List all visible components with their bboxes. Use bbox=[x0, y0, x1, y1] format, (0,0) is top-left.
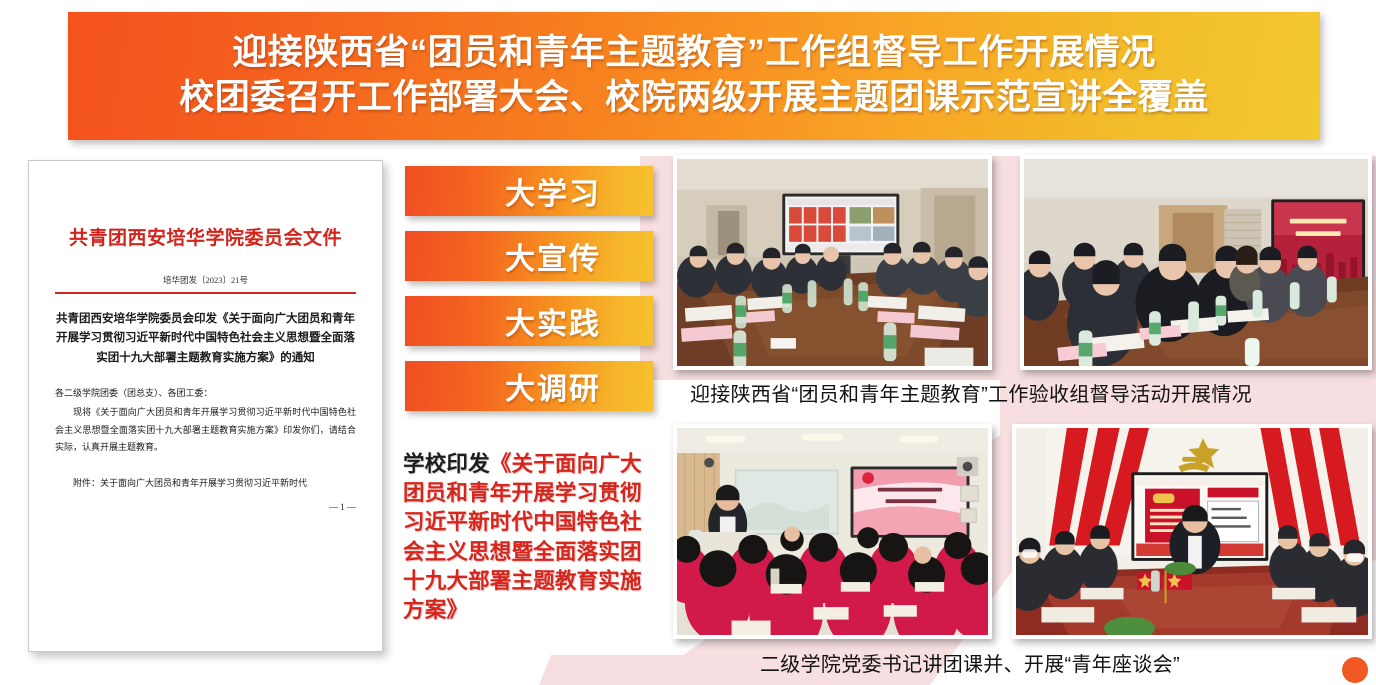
header-banner: 迎接陕西省“团员和青年主题教育”工作组督导工作开展情况 校团委召开工作部署大会、… bbox=[68, 12, 1320, 140]
label-bar-datiaoyan[interactable]: 大调研 bbox=[405, 361, 653, 411]
photo-2-canvas bbox=[1024, 159, 1368, 366]
label-bar-daxuanchuan[interactable]: 大宣传 bbox=[405, 231, 653, 281]
label-bar-dashijian[interactable]: 大实践 bbox=[405, 296, 653, 346]
caption-bottom-photos: 二级学院党委书记讲团课并、开展“青年座谈会” bbox=[760, 648, 1180, 677]
label-bar-daxuanchuan-text: 大宣传 bbox=[457, 234, 601, 278]
document-attachment: 附件：关于面向广大团员和青年开展学习贯彻习近平新时代 bbox=[55, 475, 356, 492]
label-bar-daxuexi[interactable]: 大学习 bbox=[405, 166, 653, 216]
photo-classroom-lecture bbox=[673, 424, 992, 639]
document-number: 培华团发〔2023〕21号 bbox=[55, 274, 356, 286]
photo-4-illustration bbox=[1016, 428, 1368, 635]
background-pink-diagonal-bottom bbox=[539, 655, 756, 685]
document-scan-panel: 共青团西安培华学院委员会文件 培华团发〔2023〕21号 共青团西安培华学院委员… bbox=[28, 160, 383, 652]
photo-party-seminar bbox=[1012, 424, 1372, 639]
document-divider-rule bbox=[55, 292, 356, 294]
label-bar-datiaoyan-text: 大调研 bbox=[457, 364, 601, 408]
campaign-label-bar-group: 大学习 大宣传 大实践 大调研 bbox=[405, 166, 653, 426]
document-issuance-text: 学校印发《关于面向广大团员和青年开展学习贯彻习近平新时代中国特色社会主义思想暨全… bbox=[403, 450, 653, 625]
photo-3-illustration bbox=[677, 428, 988, 635]
document-subject: 共青团西安培华学院委员会印发《关于面向广大团员和青年开展学习贯彻习近平新时代中国… bbox=[55, 310, 356, 369]
photo-3-canvas bbox=[677, 428, 988, 635]
header-title-line-2: 校团委召开工作部署大会、校院两级开展主题团课示范宣讲全覆盖 bbox=[179, 76, 1209, 121]
background-orange-dot bbox=[1342, 657, 1368, 683]
document-body-text: 现将《关于面向广大团员和青年开展学习贯彻习近平新时代中国特色社会主义思想暨全面落… bbox=[55, 404, 356, 457]
label-bar-dashijian-text: 大实践 bbox=[457, 299, 601, 343]
photo-meeting-room-display bbox=[673, 155, 992, 370]
document-recipient: 各二级学院团委（团总支）、各团工委： bbox=[55, 385, 356, 402]
photo-1-illustration bbox=[677, 159, 988, 366]
photo-2-illustration bbox=[1024, 159, 1368, 366]
header-title-line-1: 迎接陕西省“团员和青年主题教育”工作组督导工作开展情况 bbox=[232, 31, 1156, 76]
photo-1-canvas bbox=[677, 159, 988, 366]
photo-meeting-attendees bbox=[1020, 155, 1372, 370]
document-page-number: — 1 — bbox=[55, 502, 356, 512]
label-bar-daxuexi-text: 大学习 bbox=[457, 169, 601, 213]
photo-4-canvas bbox=[1016, 428, 1368, 635]
issuance-lead-text: 学校印发 bbox=[403, 452, 490, 476]
caption-top-photos: 迎接陕西省“团员和青年主题教育”工作验收组督导活动开展情况 bbox=[690, 378, 1252, 407]
document-title: 共青团西安培华学院委员会文件 bbox=[55, 223, 356, 250]
issuance-plan-title: 《关于面向广大团员和青年开展学习贯彻习近平新时代中国特色社会主义思想暨全面落实团… bbox=[403, 452, 642, 622]
